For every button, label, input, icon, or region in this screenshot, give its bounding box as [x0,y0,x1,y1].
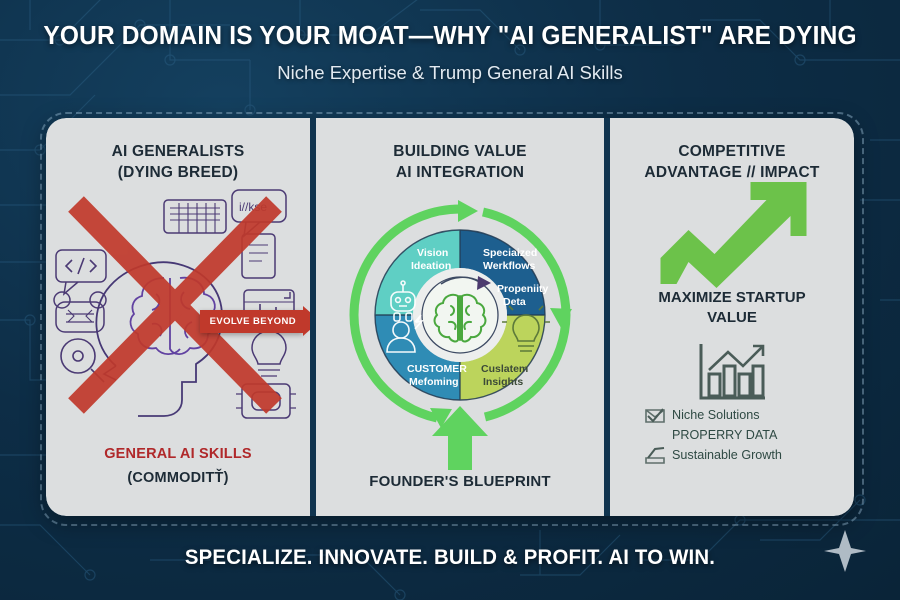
panel-3-heading: COMPETITIVE ADVANTAGE // IMPACT [610,142,854,183]
wheel-label-data-1: Propeniity [497,283,549,295]
panel-1-footer-primary: GENERAL AI SKILLS [46,446,310,462]
checkmark-box-icon [644,407,666,425]
list-item: Niche Solutions [644,408,830,428]
panel-1-heading-line1: AI GENERALISTS [112,143,245,160]
bar-chart-icon [695,340,769,404]
sparkle-icon [822,528,868,574]
arrow-right-icon [303,306,310,336]
wheel-label-data-2: Deta [503,296,526,308]
cross-out-icon [60,190,290,420]
benefit-list: Niche Solutions PROPERRY DATA Sustainabl… [644,408,830,468]
benefit-label: Niche Solutions [672,408,760,424]
panel-2-heading-line1: BUILDING VALUE [393,143,526,160]
evolve-beyond-label: EVOLVE BEYOND [200,310,303,333]
page-title: YOUR DOMAIN IS YOUR MOAT—WHY "AI GENERAL… [18,22,882,51]
panel-ai-generalists[interactable]: AI GENERALISTS (DYING BREED) [46,118,310,516]
panel-building-value[interactable]: BUILDING VALUE AI INTEGRATION [316,118,604,516]
wheel-label-customer-1: CUSTOMER [407,363,467,375]
panel-2-heading: BUILDING VALUE AI INTEGRATION [316,142,604,183]
growth-arrow-icon [655,180,810,290]
panel-3-heading-line1: COMPETITIVE [678,143,785,160]
arrow-up-icon [432,406,488,470]
panel-1-footer-secondary: (COMMODITŤ) [46,470,310,486]
benefit-label: PROPERRY DATA [672,428,777,444]
list-item: Sustainable Growth [644,448,830,468]
tagline: SPECIALIZE. INNOVATE. BUILD & PROFIT. AI… [14,546,887,570]
infographic-canvas: YOUR DOMAIN IS YOUR MOAT—WHY "AI GENERAL… [0,0,900,600]
panel-2-heading-line2: AI INTEGRATION [316,163,604,184]
wheel-label-insights-2: Insights [483,376,523,388]
panel-3-subhead: MAXIMIZE STARTUP VALUE [610,288,854,329]
ai-integration-wheel: Vision Ideation Speciaized Werkflows Pro… [345,200,575,430]
panel-competitive-advantage[interactable]: COMPETITIVE ADVANTAGE // IMPACT MAXIMIZE… [610,118,854,516]
benefit-label: Sustainable Growth [672,448,782,464]
panel-2-footer: FOUNDER'S BLUEPRINT [316,473,604,490]
list-item: PROPERRY DATA [644,428,830,448]
wheel-label-customer-2: Mefoming [409,376,459,388]
wheel-label-insights-1: Cuslatem [481,363,528,375]
wheel-label-workflows-2: Werkflows [483,260,535,272]
page-subtitle: Niche Expertise & Trump General AI Skill… [0,62,900,84]
header: YOUR DOMAIN IS YOUR MOAT—WHY "AI GENERAL… [0,22,900,84]
evolve-beyond-callout[interactable]: EVOLVE BEYOND [200,306,310,336]
panel-3-subhead-line1: MAXIMIZE STARTUP [658,289,805,306]
ring-arrow-top [458,200,478,222]
wheel-label-workflows-1: Speciaized [483,247,537,259]
wheel-label-vision-1: Vision [417,247,448,259]
panel-group: AI GENERALISTS (DYING BREED) [46,118,854,516]
panel-3-subhead-line2: VALUE [707,309,757,326]
wheel-label-vision-2: Ideation [411,260,451,272]
checkmark-tray-icon [644,447,666,465]
